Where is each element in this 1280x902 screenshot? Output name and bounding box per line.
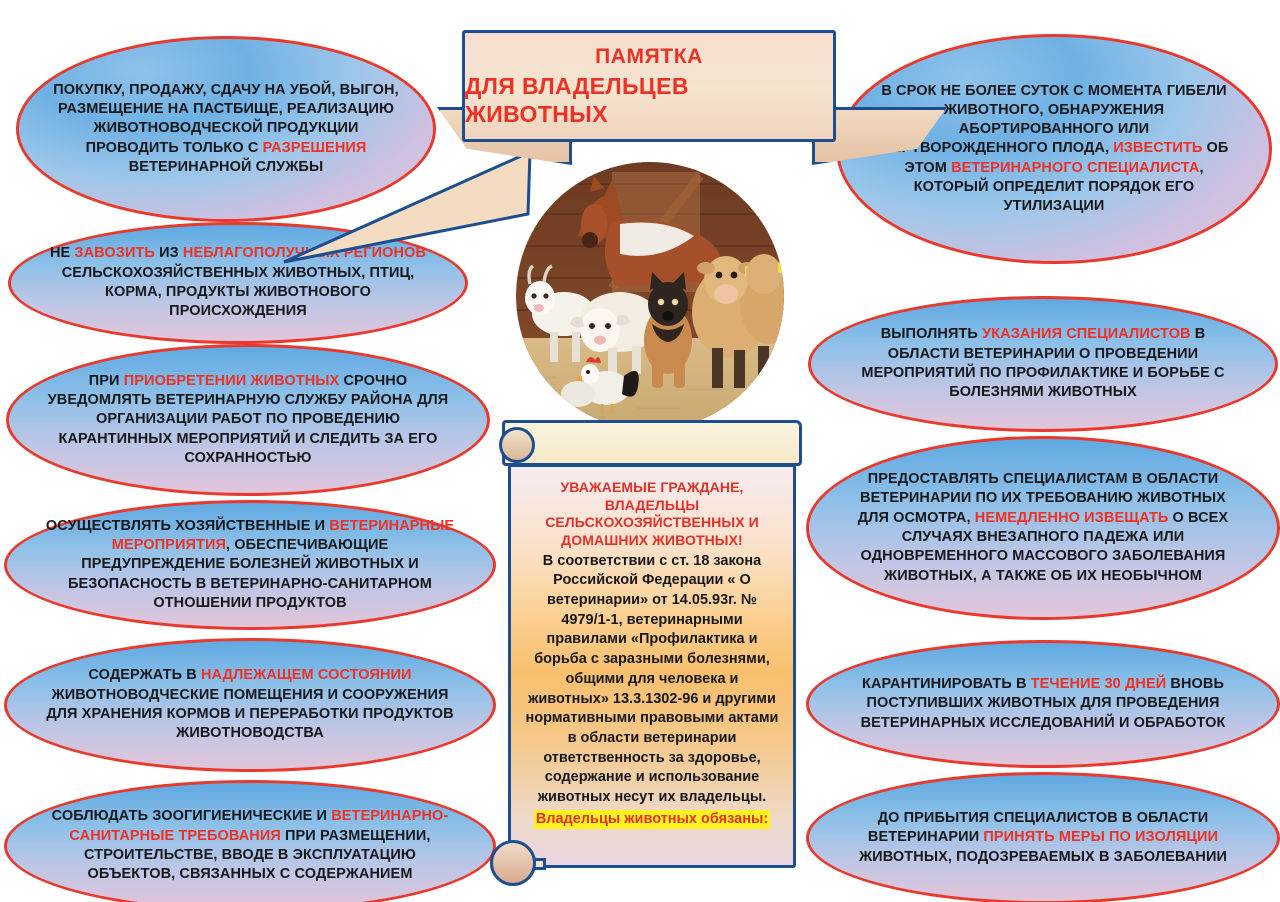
bubble-follow-specialist-instructions: ВЫПОЛНЯТЬ УКАЗАНИЯ СПЕЦИАЛИСТОВ В ОБЛАСТ… xyxy=(808,296,1278,432)
bubble-sanitary-requirements: СОБЛЮДАТЬ ЗООГИГИЕНИЧЕСКИЕ И ВЕТЕРИНАРНО… xyxy=(4,780,496,902)
bubble-text: КАРАНТИНИРОВАТЬ В ТЕЧЕНИЕ 30 ДНЕЙ ВНОВЬ … xyxy=(843,675,1243,733)
bubble-text: СОБЛЮДАТЬ ЗООГИГИЕНИЧЕСКИЕ И ВЕТЕРИНАРНО… xyxy=(41,807,459,884)
bubble-notify-on-acquisition: ПРИ ПРИОБРЕТЕНИИ ЖИВОТНЫХ СРОЧНО УВЕДОМЛ… xyxy=(6,344,490,496)
scroll-body: УВАЖАЕМЫЕ ГРАЖДАНЕ, ВЛАДЕЛЬЦЫ СЕЛЬСКОХОЗ… xyxy=(508,464,796,868)
bubble-text: СОДЕРЖАТЬ В НАДЛЕЖАЩЕМ СОСТОЯНИИ ЖИВОТНО… xyxy=(41,666,459,743)
scroll-heading: УВАЖАЕМЫЕ ГРАЖДАНЕ, ВЛАДЕЛЬЦЫ СЕЛЬСКОХОЗ… xyxy=(524,479,780,550)
scroll-heading-line-3: СЕЛЬСКОХОЗЯЙСТВЕННЫХ И xyxy=(524,514,780,532)
scroll-heading-line-2: ВЛАДЕЛЬЦЫ xyxy=(524,497,780,515)
title-banner: ПАМЯТКА ДЛЯ ВЛАДЕЛЬЦЕВ ЖИВОТНЫХ xyxy=(462,30,836,142)
central-scroll-panel: УВАЖАЕМЫЕ ГРАЖДАНЕ, ВЛАДЕЛЬЦЫ СЕЛЬСКОХОЗ… xyxy=(494,420,810,890)
scroll-body-text: В соответствии с ст. 18 закона Российско… xyxy=(524,552,780,808)
farm-animals-photo xyxy=(516,162,784,430)
scroll-bottom-roll xyxy=(446,836,542,894)
scroll-footer-highlight: Владельцы животных обязаны: xyxy=(534,810,770,829)
scroll-top-roll xyxy=(502,420,802,466)
poster-canvas: ПАМЯТКА ДЛЯ ВЛАДЕЛЬЦЕВ ЖИВОТНЫХ xyxy=(0,0,1280,902)
bubble-text: ВЫПОЛНЯТЬ УКАЗАНИЯ СПЕЦИАЛИСТОВ В ОБЛАСТ… xyxy=(845,325,1241,402)
title-line-1: ПАМЯТКА xyxy=(595,44,703,69)
bubble-provide-animals-for-inspection: ПРЕДОСТАВЛЯТЬ СПЕЦИАЛИСТАМ В ОБЛАСТИ ВЕТ… xyxy=(806,436,1280,620)
bubble-isolate-suspected-animals: ДО ПРИБЫТИЯ СПЕЦИАЛИСТОВ В ОБЛАСТИ ВЕТЕР… xyxy=(806,772,1280,902)
farm-animals-illustration xyxy=(516,162,784,430)
bubble-text: ОСУЩЕСТВЛЯТЬ ХОЗЯЙСТВЕННЫЕ И ВЕТЕРИНАРНЫ… xyxy=(41,517,459,613)
scroll-heading-line-1: УВАЖАЕМЫЕ ГРАЖДАНЕ, xyxy=(524,479,780,497)
bubble-text: ПРЕДОСТАВЛЯТЬ СПЕЦИАЛИСТАМ В ОБЛАСТИ ВЕТ… xyxy=(843,470,1243,586)
bubble-text: В СРОК НЕ БОЛЕЕ СУТОК С МОМЕНТА ГИБЕЛИ Ж… xyxy=(873,82,1235,217)
scroll-heading-line-4: ДОМАШНИХ ЖИВОТНЫХ! xyxy=(524,532,780,550)
bubble-proper-condition-of-premises: СОДЕРЖАТЬ В НАДЛЕЖАЩЕМ СОСТОЯНИИ ЖИВОТНО… xyxy=(4,638,496,772)
bubble-veterinary-measures: ОСУЩЕСТВЛЯТЬ ХОЗЯЙСТВЕННЫЕ И ВЕТЕРИНАРНЫ… xyxy=(4,500,496,630)
bubble-quarantine-30-days: КАРАНТИНИРОВАТЬ В ТЕЧЕНИЕ 30 ДНЕЙ ВНОВЬ … xyxy=(806,640,1280,768)
bubble-text: ДО ПРИБЫТИЯ СПЕЦИАЛИСТОВ В ОБЛАСТИ ВЕТЕР… xyxy=(843,809,1243,867)
title-line-2: ДЛЯ ВЛАДЕЛЬЦЕВ ЖИВОТНЫХ xyxy=(465,73,833,128)
speech-tail xyxy=(282,150,532,265)
bubble-text: ПРИ ПРИОБРЕТЕНИИ ЖИВОТНЫХ СРОЧНО УВЕДОМЛ… xyxy=(43,372,453,468)
